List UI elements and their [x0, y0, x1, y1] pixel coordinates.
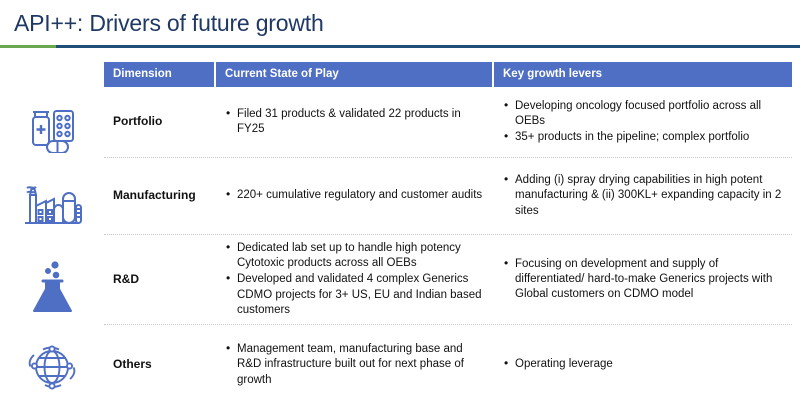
divider-green-segment [0, 45, 56, 48]
table-header-row: Dimension Current State of Play Key grow… [104, 62, 792, 87]
icon-cell-manufacturing [0, 172, 104, 234]
page-title: API++: Drivers of future growth [14, 10, 324, 37]
row-dimension-label: Portfolio [104, 108, 216, 136]
row-dimension-label: R&D [104, 266, 216, 294]
row-current-state-cell: Dedicated lab set up to handle high pote… [216, 235, 494, 324]
column-header-growth-levers: Key growth levers [494, 62, 792, 87]
list-item: 35+ products in the pipeline; complex po… [503, 130, 783, 145]
globe-network-icon [23, 340, 81, 394]
bullet-list: Focusing on development and supply of di… [503, 257, 783, 303]
list-item: Adding (i) spray drying capabilities in … [503, 173, 783, 219]
list-item: Developing oncology focused portfolio ac… [503, 99, 783, 130]
column-header-dimension: Dimension [104, 62, 216, 87]
table-row: R&D Dedicated lab set up to handle high … [104, 235, 792, 325]
drivers-table: Dimension Current State of Play Key grow… [104, 62, 792, 405]
row-current-state-cell: 220+ cumulative regulatory and customer … [216, 182, 494, 209]
row-growth-levers-cell: Operating leverage [494, 351, 792, 378]
bullet-list: Dedicated lab set up to handle high pote… [225, 241, 485, 318]
row-growth-levers-cell: Focusing on development and supply of di… [494, 251, 792, 309]
list-item: Focusing on development and supply of di… [503, 257, 783, 303]
slide-canvas: API++: Drivers of future growth [0, 0, 800, 410]
row-growth-levers-cell: Adding (i) spray drying capabilities in … [494, 167, 792, 225]
list-item: Management team, manufacturing base and … [225, 342, 485, 388]
table-row: Others Management team, manufacturing ba… [104, 325, 792, 405]
bullet-list: Management team, manufacturing base and … [225, 342, 485, 388]
row-dimension-label: Others [104, 351, 216, 379]
title-divider-rule [0, 45, 800, 48]
list-item: Developed and validated 4 complex Generi… [225, 272, 485, 318]
row-current-state-cell: Filed 31 products & validated 22 product… [216, 101, 494, 144]
row-current-state-cell: Management team, manufacturing base and … [216, 336, 494, 394]
bullet-list: Filed 31 products & validated 22 product… [225, 107, 485, 138]
lab-flask-icon [28, 255, 76, 317]
factory-plant-icon [21, 177, 83, 229]
pill-bottle-blister-pack-icon [23, 103, 81, 153]
divider-navy-segment [56, 45, 800, 48]
bullet-list: Developing oncology focused portfolio ac… [503, 99, 783, 146]
row-growth-levers-cell: Developing oncology focused portfolio ac… [494, 93, 792, 152]
bullet-list: Adding (i) spray drying capabilities in … [503, 173, 783, 219]
icon-cell-others [0, 334, 104, 400]
list-item: 220+ cumulative regulatory and customer … [225, 188, 485, 203]
icon-cell-rd [0, 248, 104, 324]
icon-cell-portfolio [0, 98, 104, 158]
bullet-list: 220+ cumulative regulatory and customer … [225, 188, 485, 203]
list-item: Dedicated lab set up to handle high pote… [225, 241, 485, 272]
list-item: Filed 31 products & validated 22 product… [225, 107, 485, 138]
table-row: Manufacturing 220+ cumulative regulatory… [104, 158, 792, 235]
table-row: Portfolio Filed 31 products & validated … [104, 87, 792, 158]
icon-column [0, 62, 104, 406]
list-item: Operating leverage [503, 357, 783, 372]
bullet-list: Operating leverage [503, 357, 783, 372]
column-header-current-state: Current State of Play [216, 62, 494, 87]
row-dimension-label: Manufacturing [104, 182, 216, 210]
